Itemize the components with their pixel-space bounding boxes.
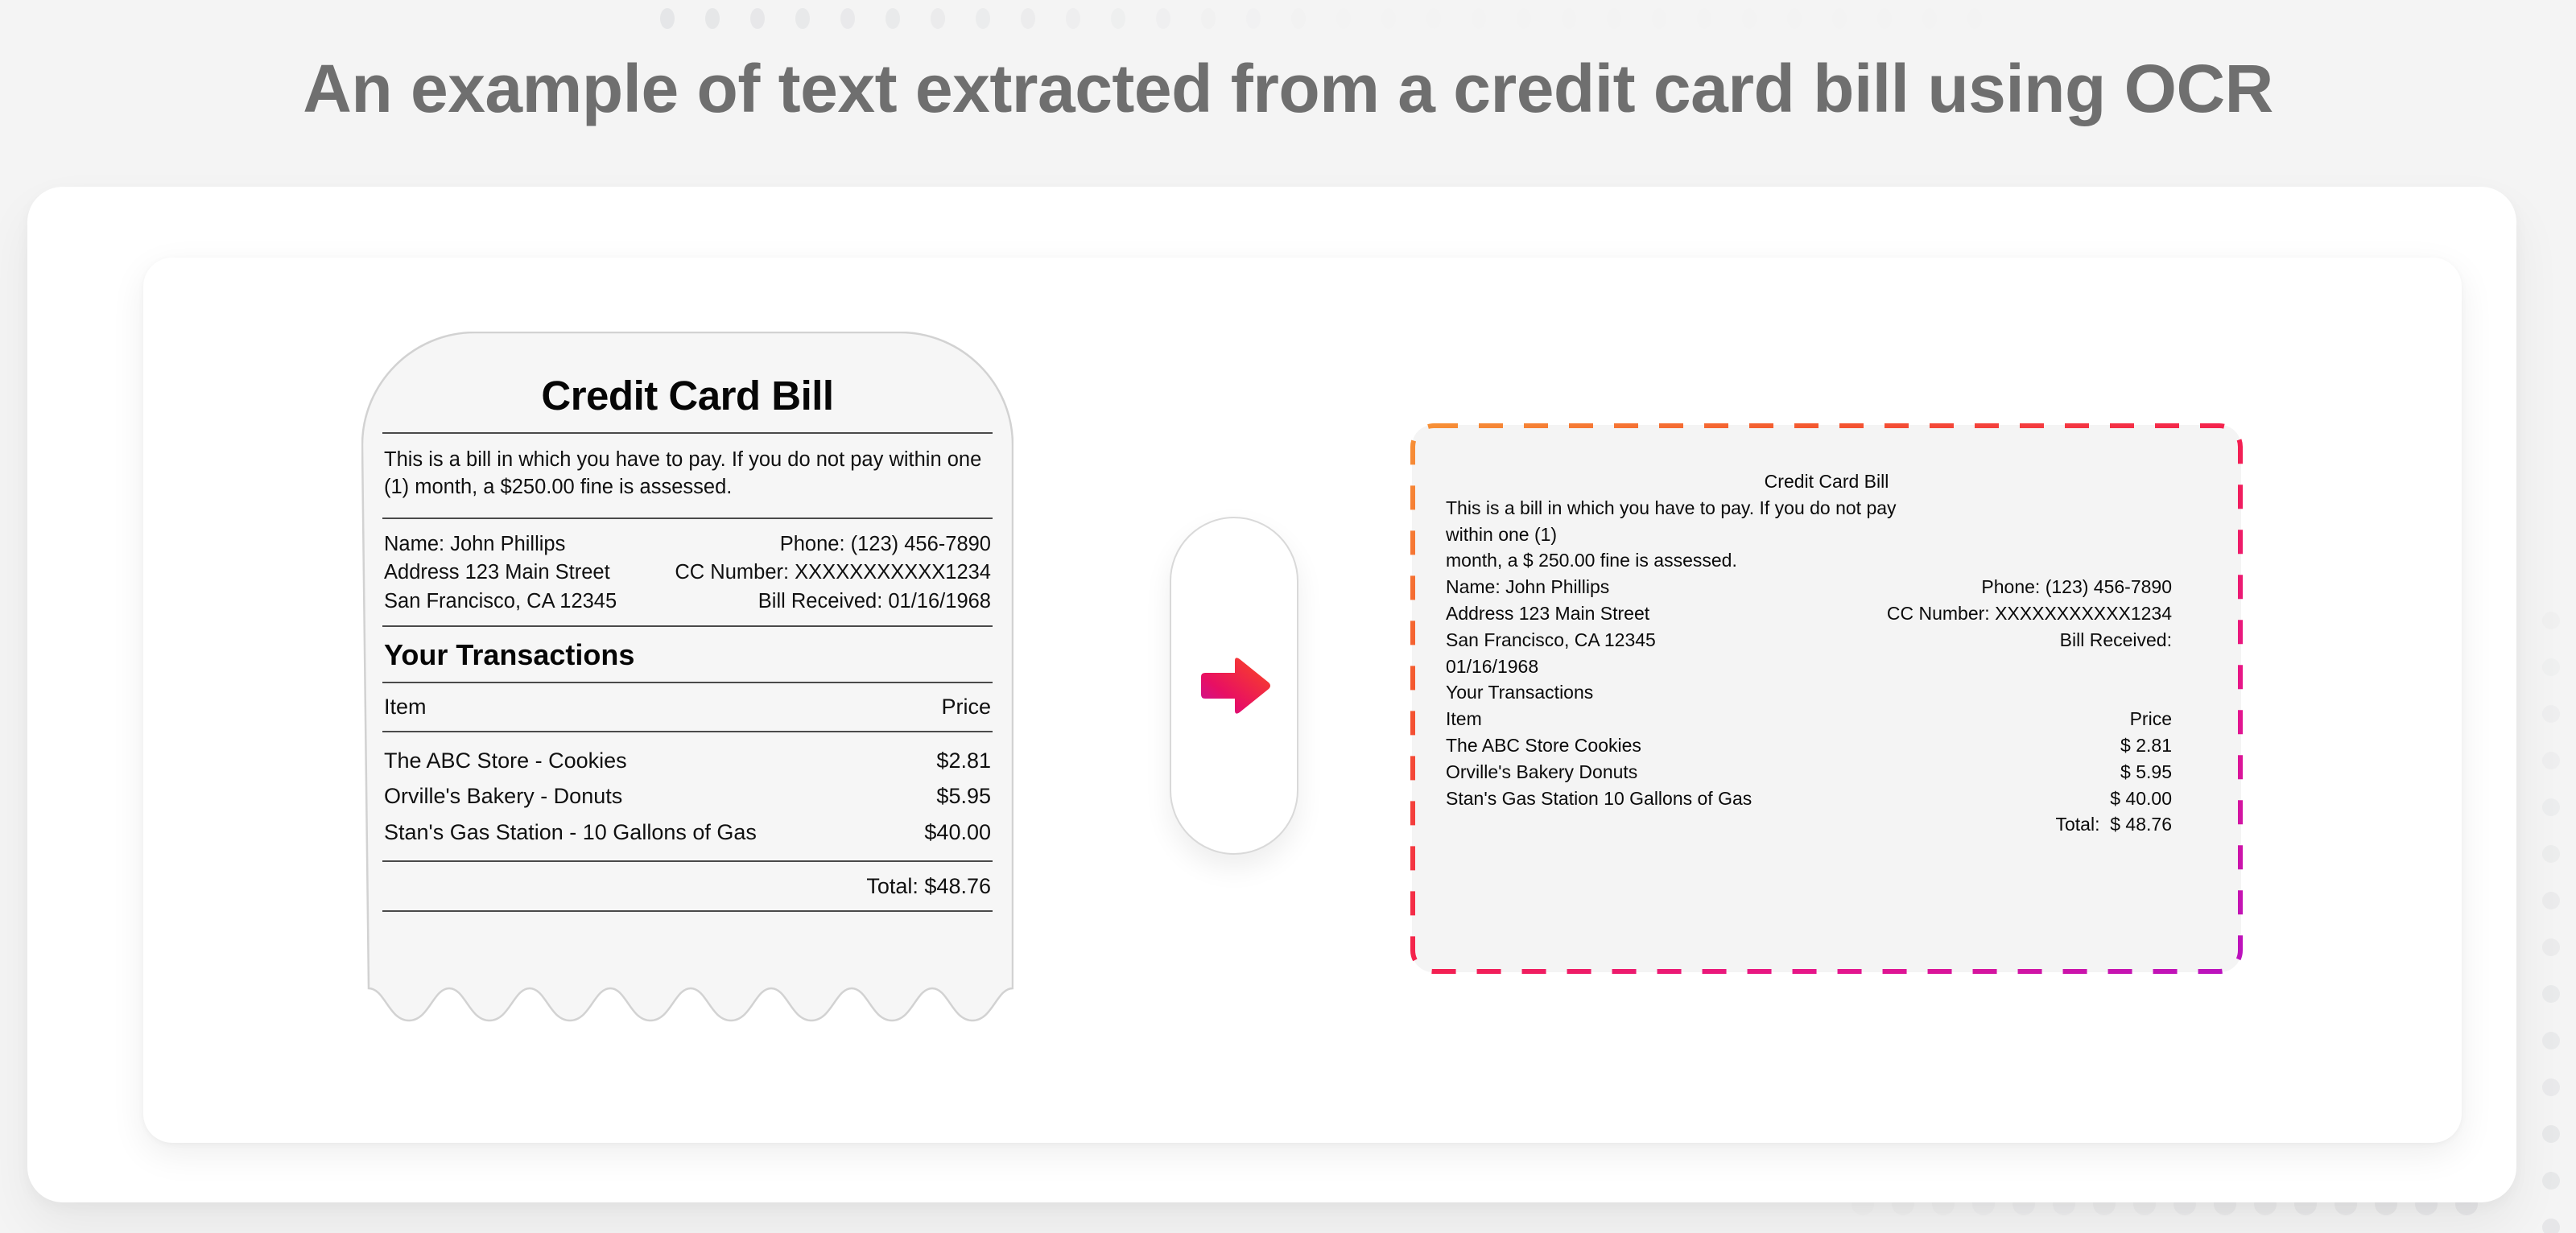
bill-meta-phone: Phone: (123) 456-7890 bbox=[675, 530, 991, 559]
decorative-dot bbox=[1967, 8, 1982, 29]
decorative-dot bbox=[1697, 8, 1711, 29]
page-title: An example of text extracted from a cred… bbox=[0, 50, 2576, 128]
decorative-dot bbox=[705, 8, 720, 29]
bill-title: Credit Card Bill bbox=[382, 372, 993, 419]
bill-total: Total: $48.76 bbox=[382, 862, 993, 910]
ocr-line: month, a $ 250.00 fine is assessed. bbox=[1446, 547, 2207, 574]
ocr-line: Credit Card Bill bbox=[1446, 468, 2207, 495]
decorative-dot bbox=[2542, 798, 2560, 816]
ocr-line-left: Orville's Bakery Donuts bbox=[1446, 759, 1637, 786]
arrow-right-icon bbox=[1197, 656, 1271, 715]
decorative-dot bbox=[1472, 8, 1486, 29]
decorative-dot bbox=[2542, 752, 2560, 769]
ocr-line-right: Bill Received: bbox=[2060, 627, 2207, 654]
ocr-line: Your Transactions bbox=[1446, 679, 2207, 706]
bill-meta-received: Bill Received: 01/16/1968 bbox=[675, 588, 991, 616]
row-item: Orville's Bakery - Donuts bbox=[384, 781, 622, 811]
row-price: $5.95 bbox=[936, 781, 991, 811]
ocr-line-left: San Francisco, CA 12345 bbox=[1446, 627, 1656, 654]
ocr-line: The ABC Store Cookies $ 2.81 bbox=[1446, 732, 2207, 759]
column-header-item: Item bbox=[384, 695, 427, 720]
decorative-dot bbox=[1517, 8, 1531, 29]
row-item: Stan's Gas Station - 10 Gallons of Gas bbox=[384, 817, 757, 847]
ocr-line-right: Price bbox=[2130, 706, 2207, 732]
decorative-dot bbox=[2542, 1172, 2560, 1190]
decorative-dot bbox=[2542, 1219, 2560, 1233]
ocr-line: This is a bill in which you have to pay.… bbox=[1446, 495, 2207, 522]
decorative-dot bbox=[2542, 1125, 2560, 1143]
decorative-dot bbox=[1381, 8, 1396, 29]
decorative-dot bbox=[840, 8, 855, 29]
screenshot-root: An example of text extracted from a cred… bbox=[0, 0, 2576, 1233]
ocr-output-box: Credit Card Bill This is a bill in which… bbox=[1412, 425, 2241, 972]
bill-meta-left: Name: John Phillips Address 123 Main Str… bbox=[384, 530, 617, 616]
bill-meta-address: Address 123 Main Street bbox=[384, 559, 617, 587]
column-header-price: Price bbox=[941, 695, 991, 720]
ocr-line: Orville's Bakery Donuts $ 5.95 bbox=[1446, 759, 2207, 786]
decorative-dot bbox=[2542, 612, 2560, 629]
ocr-line: Address 123 Main Street CC Number: XXXXX… bbox=[1446, 600, 2207, 627]
ocr-line: Item Price bbox=[1446, 706, 2207, 732]
decorative-dot bbox=[1291, 8, 1306, 29]
decorative-dot bbox=[1426, 8, 1441, 29]
ocr-line-right: CC Number: XXXXXXXXXXX1234 bbox=[1887, 600, 2207, 627]
decorative-dot bbox=[1832, 8, 1847, 29]
ocr-line: San Francisco, CA 12345 Bill Received: bbox=[1446, 627, 2207, 654]
decorative-dot bbox=[931, 8, 945, 29]
decorative-dot bbox=[1201, 8, 1216, 29]
row-price: $40.00 bbox=[924, 817, 991, 847]
ocr-line-left: Item bbox=[1446, 706, 1482, 732]
transactions-table-body: The ABC Store - Cookies $2.81 Orville's … bbox=[382, 732, 993, 860]
table-row: Orville's Bakery - Donuts $5.95 bbox=[382, 778, 993, 814]
ocr-line: Stan's Gas Station 10 Gallons of Gas $ 4… bbox=[1446, 786, 2207, 812]
decorative-dot bbox=[1787, 8, 1802, 29]
decorative-dot bbox=[2542, 658, 2560, 676]
ocr-line-right: $ 5.95 bbox=[2120, 759, 2207, 786]
decorative-dot bbox=[2542, 892, 2560, 909]
credit-card-bill-card: Credit Card Bill This is a bill in which… bbox=[361, 332, 1013, 1040]
decorative-dot bbox=[1021, 8, 1035, 29]
ocr-line-left: Address 123 Main Street bbox=[1446, 600, 1649, 627]
decorative-dot bbox=[795, 8, 810, 29]
decorative-dot bbox=[1922, 8, 1937, 29]
decorative-dot bbox=[1607, 8, 1621, 29]
decorative-dot bbox=[976, 8, 990, 29]
decorative-dots-right bbox=[2528, 0, 2576, 1233]
ocr-line: Name: John Phillips Phone: (123) 456-789… bbox=[1446, 574, 2207, 600]
ocr-line: Total: $ 48.76 bbox=[1446, 811, 2207, 838]
decorative-dot bbox=[2542, 845, 2560, 863]
bill-meta-name: Name: John Phillips bbox=[384, 530, 617, 559]
transform-arrow-button[interactable] bbox=[1170, 517, 1298, 855]
ocr-line-left: The ABC Store Cookies bbox=[1446, 732, 1641, 759]
table-row: The ABC Store - Cookies $2.81 bbox=[382, 743, 993, 778]
decorative-dot bbox=[750, 8, 765, 29]
ocr-line-right: $ 40.00 bbox=[2110, 786, 2207, 812]
ocr-line: within one (1) bbox=[1446, 522, 2207, 548]
decorative-dot bbox=[1246, 8, 1261, 29]
table-row: Stan's Gas Station - 10 Gallons of Gas $… bbox=[382, 814, 993, 850]
ocr-line: 01/16/1968 bbox=[1446, 654, 2207, 680]
decorative-dot bbox=[1742, 8, 1757, 29]
bill-divider-7 bbox=[382, 910, 993, 912]
decorative-dot bbox=[1156, 8, 1170, 29]
bill-meta-right: Phone: (123) 456-7890 CC Number: XXXXXXX… bbox=[675, 530, 991, 616]
row-item: The ABC Store - Cookies bbox=[384, 745, 627, 776]
ocr-line-right: $ 2.81 bbox=[2120, 732, 2207, 759]
bill-meta: Name: John Phillips Address 123 Main Str… bbox=[382, 519, 993, 625]
decorative-dot bbox=[1877, 8, 1892, 29]
decorative-dot bbox=[2542, 985, 2560, 1003]
decorative-dot bbox=[1066, 8, 1080, 29]
ocr-line-right: Phone: (123) 456-7890 bbox=[1981, 574, 2207, 600]
transactions-table-header: Item Price bbox=[382, 683, 993, 731]
decorative-dot bbox=[1562, 8, 1576, 29]
decorative-dot bbox=[1652, 8, 1666, 29]
bill-meta-city: San Francisco, CA 12345 bbox=[384, 588, 617, 616]
decorative-dot bbox=[660, 8, 675, 29]
row-price: $2.81 bbox=[936, 745, 991, 776]
bill-meta-ccnumber: CC Number: XXXXXXXXXXX1234 bbox=[675, 559, 991, 587]
bill-content: Credit Card Bill This is a bill in which… bbox=[382, 354, 993, 912]
ocr-line-left: Name: John Phillips bbox=[1446, 574, 1609, 600]
decorative-dot bbox=[2542, 705, 2560, 723]
decorative-dot bbox=[885, 8, 900, 29]
transactions-heading: Your Transactions bbox=[382, 627, 993, 682]
decorative-dot bbox=[2542, 938, 2560, 956]
decorative-dot bbox=[2542, 1032, 2560, 1049]
ocr-extracted-text: Credit Card Bill This is a bill in which… bbox=[1446, 468, 2207, 838]
decorative-dot bbox=[2542, 1078, 2560, 1096]
decorative-dots-top bbox=[0, 0, 2576, 37]
ocr-line-left: Stan's Gas Station 10 Gallons of Gas bbox=[1446, 786, 1752, 812]
decorative-dot bbox=[1336, 8, 1351, 29]
bill-intro-text: This is a bill in which you have to pay.… bbox=[382, 434, 993, 518]
decorative-dot bbox=[1111, 8, 1125, 29]
